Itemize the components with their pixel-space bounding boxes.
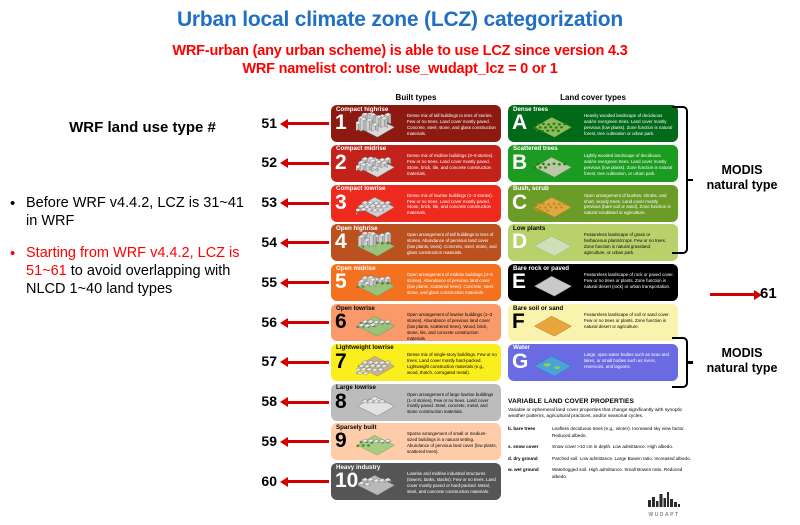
built-type-description-4: Open arrangement of tall buildings to te… [407, 232, 497, 256]
bullet-dot-icon: • [10, 245, 26, 299]
wudapt-logo: WUDAPT [636, 492, 692, 518]
built-type-pictogram-1 [356, 113, 396, 142]
built-type-number-4: 4 [335, 231, 347, 252]
land-cover-number-B: B [512, 152, 527, 173]
land-cover-card-D[interactable]: Low plantsDFeatureless landscape of gras… [508, 224, 678, 261]
land-cover-pictogram-F [533, 312, 573, 341]
wrf-number-59: 59 [251, 433, 277, 449]
built-type-pictogram-9 [356, 431, 396, 460]
vlcp-key-3: w. wet ground [508, 467, 552, 485]
wrf-number-54: 54 [251, 234, 277, 250]
wrf-number-55: 55 [251, 274, 277, 290]
built-type-card-4[interactable]: Open highrise4Open arrangement of tall b… [331, 224, 501, 261]
subtitle-line-1: WRF-urban (any urban scheme) is able to … [0, 43, 800, 59]
land-cover-description-A: Heavily wooded landscape of deciduous an… [584, 113, 674, 137]
land-cover-card-F[interactable]: Bare soil or sandFFeatureless landscape … [508, 304, 678, 341]
arrow-to-built-type-10 [287, 480, 329, 483]
vlcp-desc-0: Leafless deciduous trees (e.g., winter).… [552, 426, 693, 444]
arrow-to-built-type-1 [287, 122, 329, 125]
vlcp-desc-3: Waterlogged soil. High admittance. Small… [552, 467, 693, 485]
modis-top-line-1: MODIS [690, 163, 794, 178]
bullet-list: • Before WRF v4.4.2, LCZ is 31~41 in WRF… [10, 195, 255, 313]
vlcp-key-2: d. dry ground [508, 456, 552, 467]
built-type-pictogram-4 [356, 232, 396, 261]
built-type-number-6: 6 [335, 311, 347, 332]
built-type-number-5: 5 [335, 271, 347, 292]
built-type-card-5[interactable]: Open midrise5Open arrangement of midrise… [331, 264, 501, 301]
modis-bracket-bottom [672, 337, 688, 388]
wrf-number-56: 56 [251, 314, 277, 330]
land-cover-pictogram-E [533, 272, 573, 301]
land-cover-number-D: D [512, 231, 527, 252]
modis-bottom-line-1: MODIS [690, 346, 794, 361]
built-type-description-5: Open arrangement of midrise buildings (3… [407, 272, 497, 296]
land-cover-number-E: E [512, 271, 526, 292]
arrow-to-built-type-8 [287, 401, 329, 404]
built-type-pictogram-5 [356, 272, 396, 301]
built-type-description-7: Dense mix of single-story buildings. Few… [407, 352, 497, 376]
built-type-description-9: Sparse arrangement of small or medium-si… [407, 431, 497, 455]
built-type-pictogram-2 [356, 153, 396, 182]
land-cover-pictogram-G [533, 352, 573, 381]
built-type-card-3[interactable]: Compact lowrise3Dense mix of lowrise bui… [331, 185, 501, 222]
land-cover-description-B: Lightly wooded landscape of deciduous an… [584, 153, 674, 177]
vlcp-heading: VARIABLE LAND COVER PROPERTIES [508, 398, 693, 405]
arrow-to-built-type-5 [287, 281, 329, 284]
vlcp-key-1: s. snow cover [508, 444, 552, 455]
wrf-number-51: 51 [251, 115, 277, 131]
bullet-text-2: Starting from WRF v4.4.2, LCZ is 51~61 t… [26, 245, 255, 299]
modis-top-line-2: natural type [690, 178, 794, 193]
land-cover-card-B[interactable]: Scattered treesBLightly wooded landscape… [508, 145, 678, 182]
built-type-pictogram-10 [356, 471, 396, 500]
wudapt-wordmark: WUDAPT [636, 512, 692, 518]
built-type-description-10: Lowrise and midrise industrial structure… [407, 471, 497, 495]
vlcp-row: b. bare treesLeafless deciduous trees (e… [508, 426, 693, 444]
variable-land-cover-properties: VARIABLE LAND COVER PROPERTIES Variable … [508, 398, 693, 485]
list-item: • Before WRF v4.4.2, LCZ is 31~41 in WRF [10, 195, 255, 231]
vlcp-row: s. snow coverSnow cover >10 cm in depth.… [508, 444, 693, 455]
wrf-number-58: 58 [251, 393, 277, 409]
arrow-to-built-type-4 [287, 241, 329, 244]
built-type-description-2: Dense mix of midrise buildings (3–9 stor… [407, 153, 497, 177]
land-cover-description-D: Featureless landscape of grass or herbac… [584, 232, 674, 256]
bullet-dot-icon: • [10, 195, 26, 231]
built-type-number-10: 10 [335, 470, 358, 491]
arrow-to-61 [710, 293, 754, 296]
built-type-number-3: 3 [335, 192, 347, 213]
list-item: • Starting from WRF v4.4.2, LCZ is 51~61… [10, 245, 255, 299]
wudapt-skyline-icon [647, 492, 681, 507]
built-type-card-8[interactable]: Large lowrise8Open arrangement of large … [331, 384, 501, 421]
land-cover-description-G: Large, open water bodies such as seas an… [584, 352, 674, 370]
built-type-pictogram-3 [356, 193, 396, 222]
land-cover-description-C: Open arrangement of bushes, shrubs, and … [584, 193, 674, 217]
vlcp-desc-2: Parched soil. Low admittance. Large Bowe… [552, 456, 693, 467]
built-type-number-9: 9 [335, 430, 347, 451]
modis-bracket-top [672, 106, 688, 254]
wrf-number-52: 52 [251, 154, 277, 170]
built-type-number-8: 8 [335, 391, 347, 412]
land-cover-pictogram-A [533, 113, 573, 142]
land-cover-number-A: A [512, 112, 527, 133]
wrf-number-53: 53 [251, 194, 277, 210]
vlcp-row: w. wet groundWaterlogged soil. High admi… [508, 467, 693, 485]
built-type-card-2[interactable]: Compact midrise2Dense mix of midrise bui… [331, 145, 501, 182]
land-cover-description-F: Featureless landscape of soil or sand co… [584, 312, 674, 330]
built-type-description-1: Dense mix of tall buildings to tens of s… [407, 113, 497, 137]
modis-natural-type-label-bottom: MODIS natural type [690, 346, 794, 377]
built-type-card-7[interactable]: Lightweight lowrise7Dense mix of single-… [331, 344, 501, 381]
built-type-card-10[interactable]: Heavy industry10Lowrise and midrise indu… [331, 463, 501, 500]
land-cover-number-G: G [512, 351, 528, 372]
wrf-number-60: 60 [251, 473, 277, 489]
built-type-number-2: 2 [335, 152, 347, 173]
built-type-card-6[interactable]: Open lowrise6Open arrangement of lowrise… [331, 304, 501, 341]
land-cover-number-F: F [512, 311, 525, 332]
land-cover-card-A[interactable]: Dense treesAHeavily wooded landscape of … [508, 105, 678, 142]
built-type-pictogram-7 [356, 352, 396, 381]
arrow-to-built-type-6 [287, 321, 329, 324]
arrow-to-built-type-3 [287, 202, 329, 205]
wrf-land-use-type-label: WRF land use type # [40, 119, 245, 136]
page-title: Urban local climate zone (LCZ) categoriz… [0, 8, 800, 32]
vlcp-desc-1: Snow cover >10 cm in depth. Low admittan… [552, 444, 693, 455]
built-type-pictogram-6 [356, 312, 396, 341]
modis-bottom-line-2: natural type [690, 361, 794, 376]
built-type-description-8: Open arrangement of large lowrise buildi… [407, 392, 497, 416]
vlcp-key-0: b. bare trees [508, 426, 552, 444]
wrf-number-57: 57 [251, 353, 277, 369]
built-types-header: Built types [331, 93, 501, 102]
built-type-description-3: Dense mix of lowrise buildings (1–3 stor… [407, 193, 497, 217]
land-cover-number-C: C [512, 192, 527, 213]
vlcp-table: b. bare treesLeafless deciduous trees (e… [508, 426, 693, 485]
built-type-number-7: 7 [335, 351, 347, 372]
arrow-to-built-type-2 [287, 162, 329, 165]
land-cover-card-G[interactable]: WaterGLarge, open water bodies such as s… [508, 344, 678, 381]
vlcp-row: d. dry groundParched soil. Low admittanc… [508, 456, 693, 467]
built-type-number-1: 1 [335, 112, 347, 133]
vlcp-intro: Variable or ephemeral land cover propert… [508, 408, 693, 422]
subtitle-line-2: WRF namelist control: use_wudapt_lcz = 0… [0, 61, 800, 77]
built-type-card-1[interactable]: Compact highrise1Dense mix of tall build… [331, 105, 501, 142]
built-type-pictogram-8 [356, 392, 396, 421]
land-cover-card-C[interactable]: Bush, scrubCOpen arrangement of bushes, … [508, 185, 678, 222]
wrf-number-61: 61 [760, 285, 777, 302]
land-cover-description-E: Featureless landscape of rock or paved c… [584, 272, 674, 290]
land-cover-pictogram-D [533, 232, 573, 261]
land-cover-card-E[interactable]: Bare rock or pavedEFeatureless landscape… [508, 264, 678, 301]
land-cover-pictogram-B [533, 153, 573, 182]
arrow-to-built-type-7 [287, 361, 329, 364]
modis-natural-type-label-top: MODIS natural type [690, 163, 794, 194]
land-cover-types-header: Land cover types [508, 93, 678, 102]
built-type-description-6: Open arrangement of lowrise buildings (1… [407, 312, 497, 341]
arrow-to-built-type-9 [287, 440, 329, 443]
built-type-card-9[interactable]: Sparsely built9Sparse arrangement of sma… [331, 423, 501, 460]
bullet-text-1: Before WRF v4.4.2, LCZ is 31~41 in WRF [26, 195, 255, 231]
land-cover-pictogram-C [533, 193, 573, 222]
